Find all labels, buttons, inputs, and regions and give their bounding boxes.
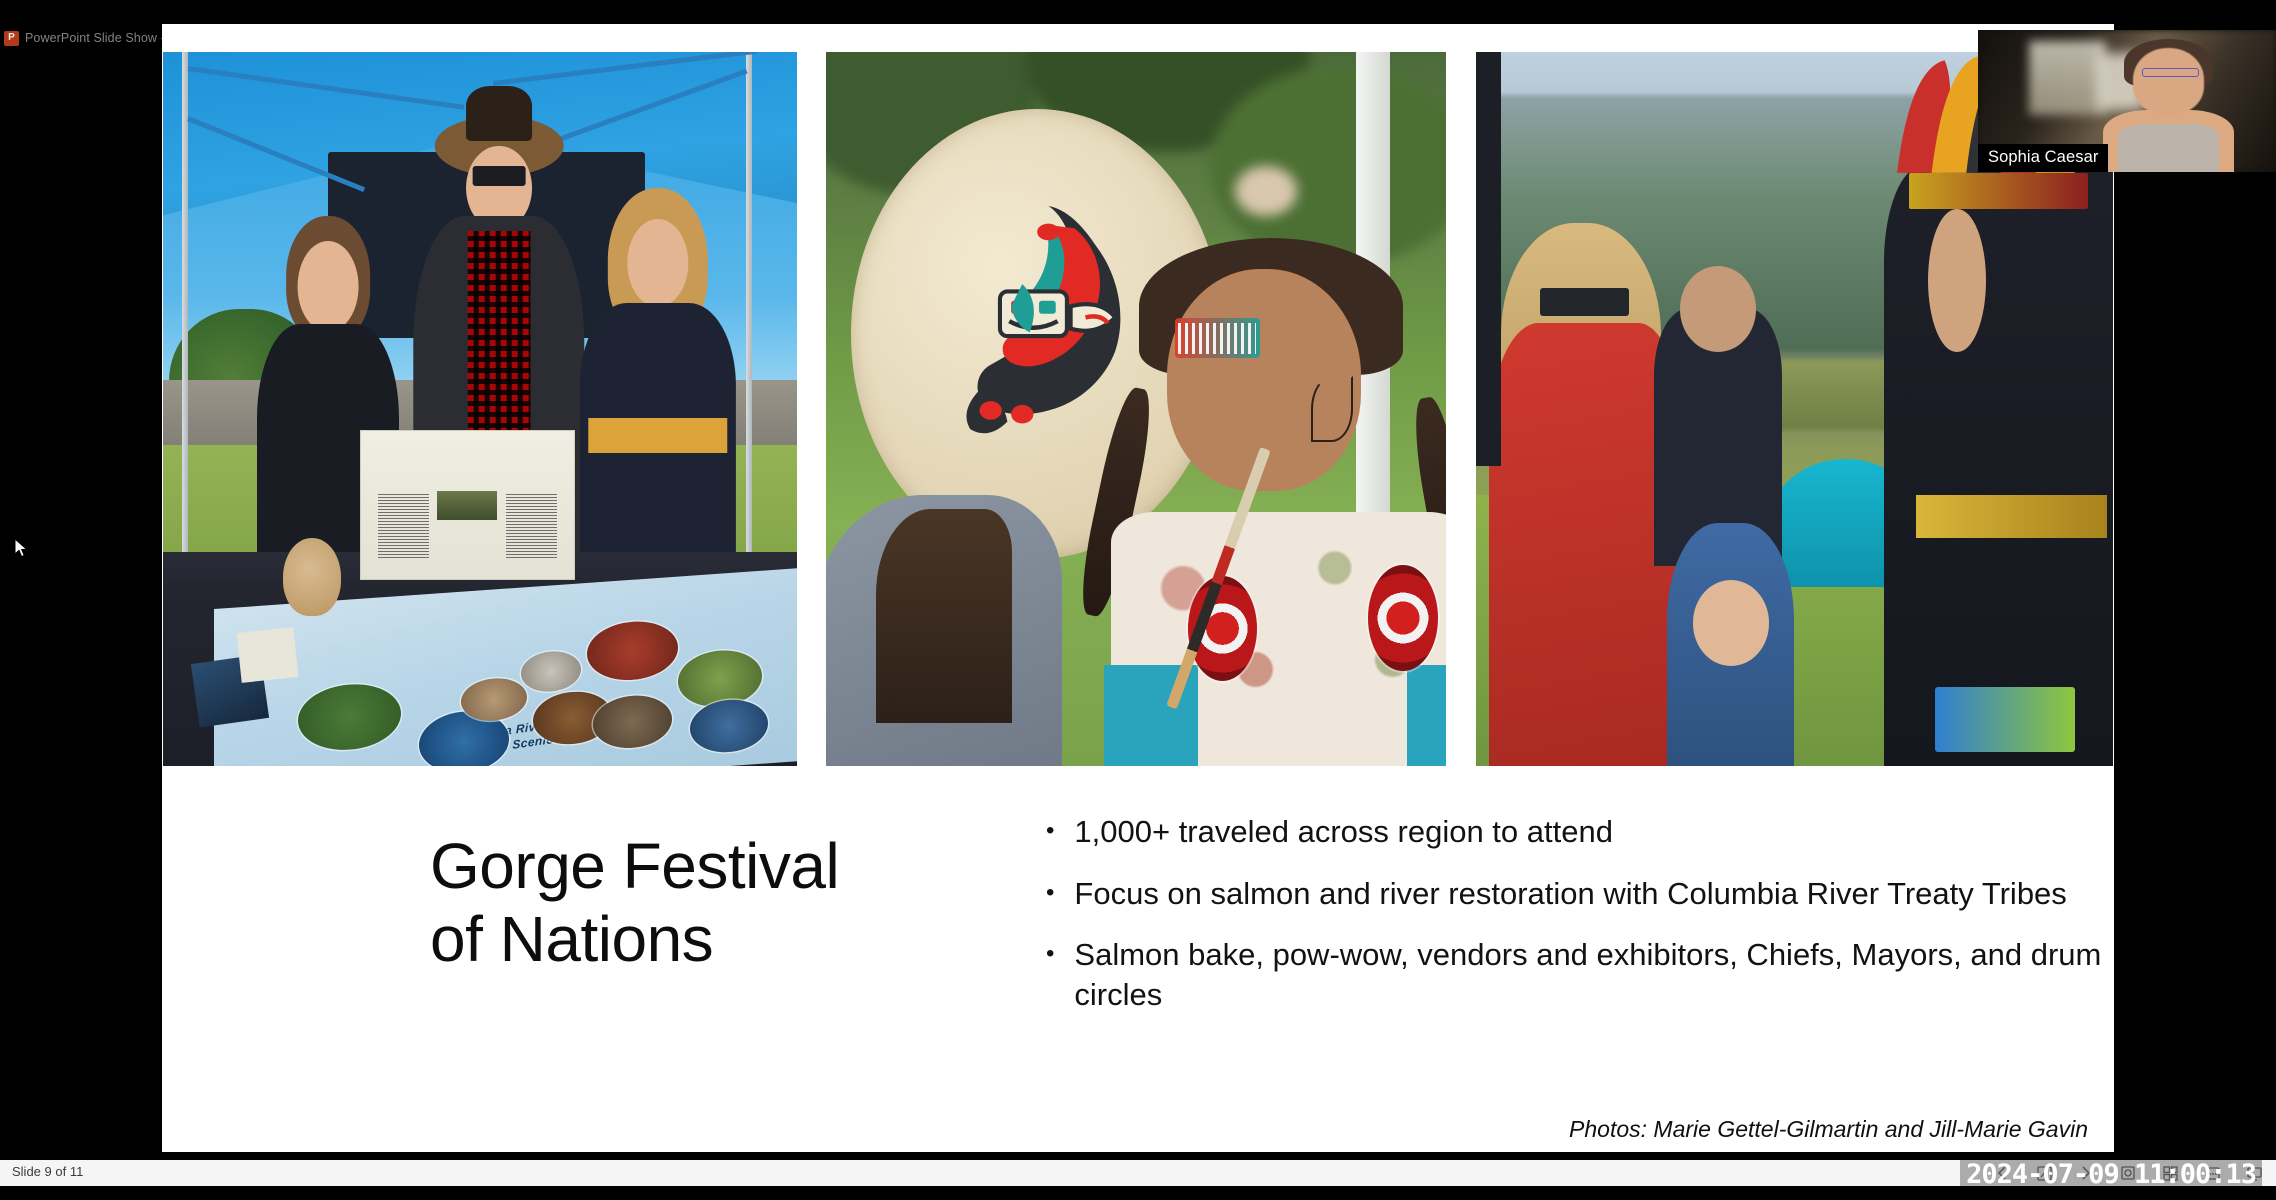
list-item: • Salmon bake, pow-wow, vendors and exhi… [1046,935,2114,1014]
status-bar [0,1160,2276,1186]
booth-photo: Columbia River GorgeNational Scenic Area [163,52,797,766]
bullet-list: • 1,000+ traveled across region to atten… [1046,812,2114,1037]
photo-credit: Photos: Marie Gettel-Gilmartin and Jill-… [1569,1116,2088,1143]
page-title: Gorge Festival of Nations [430,830,900,976]
bullet-marker: • [1046,874,1054,914]
bullet-text: 1,000+ traveled across region to attend [1074,812,1613,852]
drum-photo [826,52,1446,766]
bullet-text: Focus on salmon and river restoration wi… [1074,874,2066,914]
mouse-cursor [14,538,29,560]
powerpoint-icon: P [4,31,19,46]
participant-name-label: Sophia Caesar [1978,144,2108,172]
bullet-marker: • [1046,812,1054,852]
slide-canvas[interactable]: Columbia River GorgeNational Scenic Area [162,24,2114,1152]
webcam-overlay[interactable]: Sophia Caesar [1978,30,2276,172]
list-item: • Focus on salmon and river restoration … [1046,874,2114,914]
list-item: • 1,000+ traveled across region to atten… [1046,812,2114,852]
screen-root: P PowerPoint Slide Show - FINAL_Presenta… [0,0,2276,1200]
recording-timestamp: 2024-07-09 11:00:13 [1960,1158,2262,1191]
bullet-marker: • [1046,935,1054,1014]
slide-counter: Slide 9 of 11 [12,1164,83,1179]
bullet-text: Salmon bake, pow-wow, vendors and exhibi… [1074,935,2114,1014]
